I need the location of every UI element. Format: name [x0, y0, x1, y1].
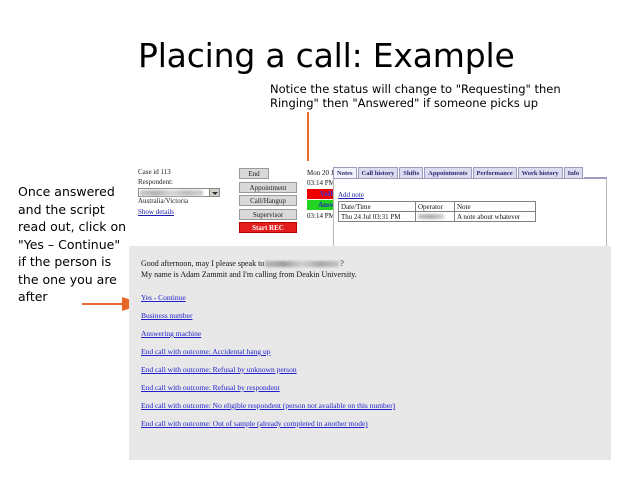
tab-notes[interactable]: Notes [333, 167, 357, 178]
tab-strip: Notes Call history Shifts Appointments P… [333, 166, 607, 178]
script-region: Good afternoon, may I please speak to? M… [129, 246, 611, 460]
operator-value-redacted [418, 214, 444, 219]
respondent-value-redacted [140, 190, 203, 196]
table-row[interactable]: Thu 24 Jul 03:31 PM A note about whateve… [339, 212, 536, 222]
link-outcome-no-eligible-respondent[interactable]: End call with outcome: No eligible respo… [141, 401, 395, 410]
callout-yes-continue-note: Once answered and the script read out, c… [18, 183, 128, 306]
callout-status-note: Notice the status will change to "Reques… [270, 82, 610, 110]
end-button[interactable]: End [239, 168, 269, 179]
call-hangup-button[interactable]: Call/Hangup [239, 195, 297, 206]
script-outcome-links: Yes - Continue Business number Answering… [141, 293, 599, 428]
start-rec-button[interactable]: Start REC [239, 222, 297, 233]
tab-info[interactable]: Info [564, 167, 584, 178]
link-outcome-out-of-sample[interactable]: End call with outcome: Out of sample (al… [141, 419, 368, 428]
column-operator: Operator [416, 202, 455, 212]
respondent-select[interactable] [138, 188, 220, 197]
cell-operator [416, 212, 455, 222]
tab-shifts[interactable]: Shifts [399, 167, 423, 178]
chevron-down-icon[interactable] [209, 189, 219, 196]
show-details-link[interactable]: Show details [138, 208, 174, 218]
link-outcome-refusal-respondent[interactable]: End call with outcome: Refusal by respon… [141, 383, 280, 392]
case-info-block: Case id 113 Respondent: Australia/Victor… [138, 168, 234, 217]
respondent-name-redacted [265, 261, 339, 267]
link-yes-continue[interactable]: Yes - Continue [141, 293, 186, 302]
link-outcome-accidental-hangup[interactable]: End call with outcome: Accidental hang u… [141, 347, 271, 356]
add-note-link[interactable]: Add note [338, 191, 364, 199]
supervisor-button[interactable]: Supervisor [239, 209, 297, 220]
cell-datetime: Thu 24 Jul 03:31 PM [339, 212, 416, 222]
page-title: Placing a call: Example [138, 36, 515, 75]
timezone-label: Australia/Victoria [138, 197, 234, 207]
call-action-buttons: End Appointment Call/Hangup Supervisor S… [239, 168, 301, 236]
tab-call-history[interactable]: Call history [358, 167, 399, 178]
notes-table: Date/Time Operator Note Thu 24 Jul 03:31… [338, 201, 536, 222]
tab-strip-filler [584, 166, 607, 178]
tab-appointments[interactable]: Appointments [424, 167, 471, 178]
column-note: Note [455, 202, 536, 212]
case-id-label: Case id 113 [138, 168, 234, 178]
respondent-label: Respondent: [138, 178, 234, 188]
script-line-1-after: ? [340, 259, 344, 268]
link-business-number[interactable]: Business number [141, 311, 192, 320]
script-line-2: My name is Adam Zammit and I'm calling f… [141, 269, 599, 280]
table-header-row: Date/Time Operator Note [339, 202, 536, 212]
link-outcome-refusal-unknown-person[interactable]: End call with outcome: Refusal by unknow… [141, 365, 297, 374]
link-answering-machine[interactable]: Answering machine [141, 329, 201, 338]
app-header-region: Case id 113 Respondent: Australia/Victor… [129, 161, 611, 246]
cell-note: A note about whatever [455, 212, 536, 222]
tab-work-history[interactable]: Work history [518, 167, 563, 178]
embedded-app-screenshot: Case id 113 Respondent: Australia/Victor… [129, 161, 611, 460]
appointment-button[interactable]: Appointment [239, 182, 297, 193]
script-line-1: Good afternoon, may I please speak to? [141, 258, 599, 269]
tab-performance[interactable]: Performance [473, 167, 517, 178]
script-line-1-before: Good afternoon, may I please speak to [141, 259, 264, 268]
column-datetime: Date/Time [339, 202, 416, 212]
